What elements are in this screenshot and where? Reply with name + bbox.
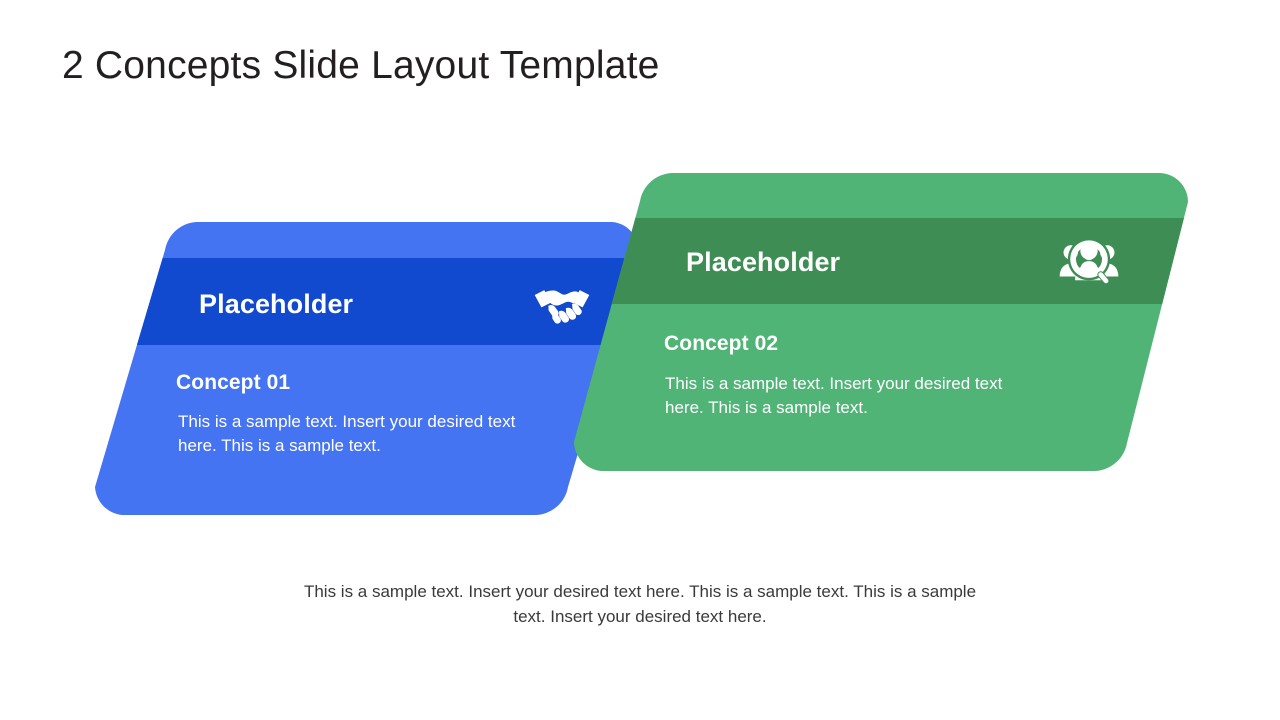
footer-caption: This is a sample text. Insert your desir… — [300, 580, 980, 629]
concept-01-header-label: Placeholder — [199, 289, 353, 320]
concept-01-body-text: This is a sample text. Insert your desir… — [178, 410, 528, 458]
people-search-icon — [1058, 238, 1120, 288]
concept-02-header-band — [560, 218, 1220, 304]
concept-02-shape[interactable] — [560, 160, 1220, 480]
concept-02-body-text: This is a sample text. Insert your desir… — [665, 372, 1015, 420]
concept-01-shape[interactable] — [80, 210, 660, 530]
slide-canvas: 2 Concepts Slide Layout Template — [0, 0, 1280, 720]
concept-02-body-fill — [560, 160, 1220, 480]
handshake-icon — [531, 282, 593, 328]
concept-02-header-label: Placeholder — [686, 247, 840, 278]
concept-02-subtitle: Concept 02 — [664, 332, 778, 356]
concept-01-subtitle: Concept 01 — [176, 371, 290, 395]
